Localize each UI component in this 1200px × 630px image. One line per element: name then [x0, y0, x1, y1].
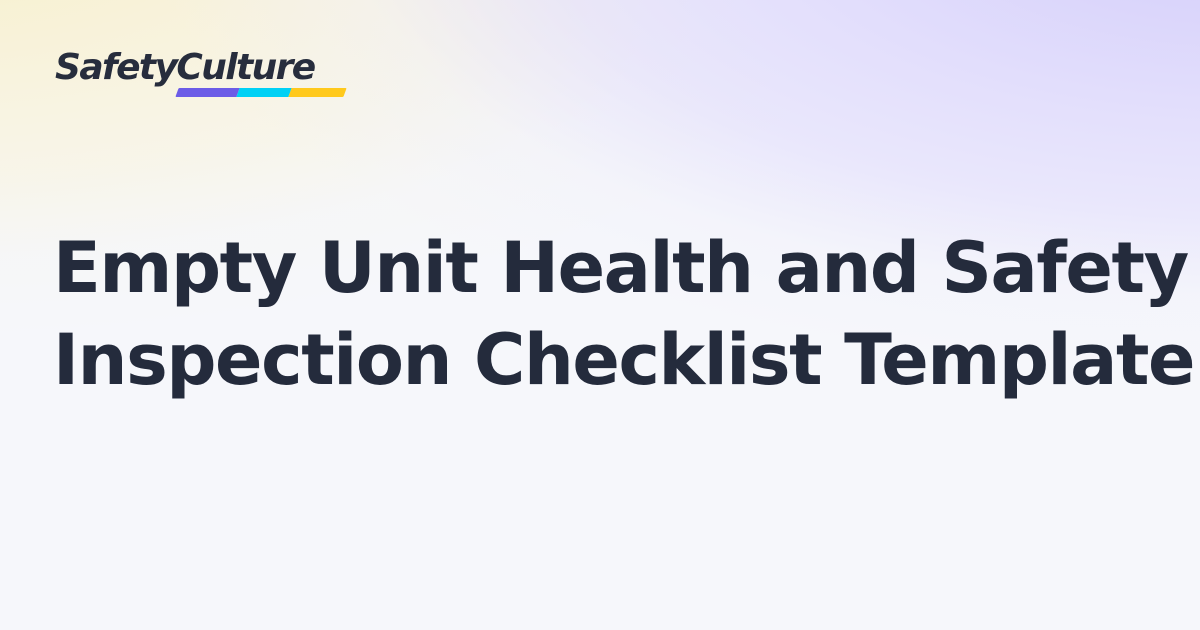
page-title-line-1: Empty Unit Health and Safety	[53, 222, 1148, 314]
logo-underline-accent	[175, 88, 346, 97]
logo-underline-yellow-segment	[288, 88, 347, 97]
logo-underline-purple-segment	[175, 88, 240, 97]
logo-underline-cyan-segment	[237, 88, 292, 97]
share-card: SafetyCulture Empty Unit Health and Safe…	[0, 0, 1200, 630]
page-title-line-2: Inspection Checklist Template	[53, 314, 1148, 406]
page-title: Empty Unit Health and Safety Inspection …	[53, 222, 1148, 406]
safetyculture-logo[interactable]: SafetyCulture	[55, 47, 345, 103]
logo-wordmark: SafetyCulture	[55, 47, 345, 89]
